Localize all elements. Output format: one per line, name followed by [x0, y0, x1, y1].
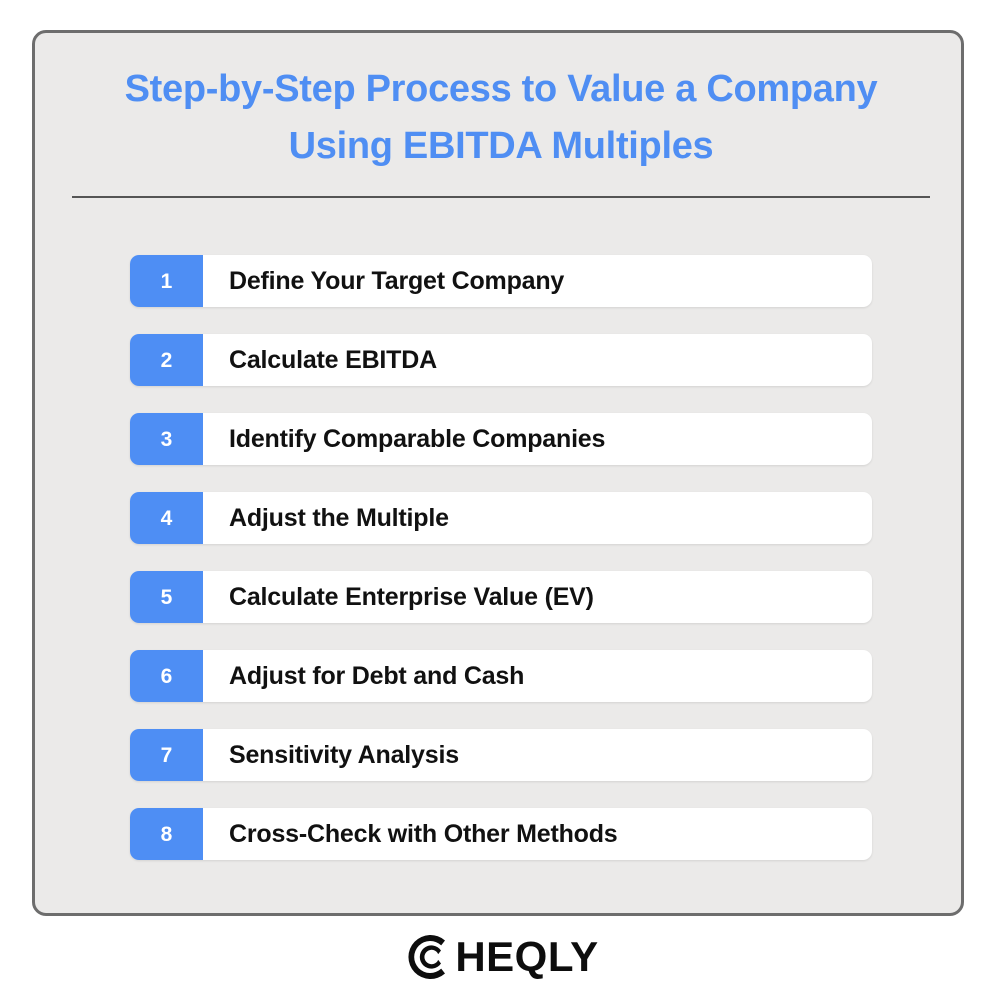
step-row[interactable]: 7 Sensitivity Analysis	[130, 729, 872, 781]
brand-name: HEQLY	[455, 936, 598, 978]
step-row[interactable]: 3 Identify Comparable Companies	[130, 413, 872, 465]
step-label: Calculate EBITDA	[203, 334, 872, 386]
infographic-page: Step-by-Step Process to Value a Company …	[0, 0, 1000, 1000]
step-label: Cross-Check with Other Methods	[203, 808, 872, 860]
step-number-badge: 4	[130, 492, 203, 544]
step-number-badge: 1	[130, 255, 203, 307]
page-title-line-1: Step-by-Step Process to Value a Company	[75, 61, 927, 118]
page-title: Step-by-Step Process to Value a Company …	[75, 61, 927, 175]
brand-logo: HEQLY	[0, 926, 1000, 988]
step-label: Sensitivity Analysis	[203, 729, 872, 781]
step-number-badge: 5	[130, 571, 203, 623]
steps-list: 1 Define Your Target Company 2 Calculate…	[130, 255, 872, 860]
step-row[interactable]: 8 Cross-Check with Other Methods	[130, 808, 872, 860]
step-label: Calculate Enterprise Value (EV)	[203, 571, 872, 623]
step-label: Adjust the Multiple	[203, 492, 872, 544]
step-row[interactable]: 5 Calculate Enterprise Value (EV)	[130, 571, 872, 623]
step-label: Adjust for Debt and Cash	[203, 650, 872, 702]
step-label: Identify Comparable Companies	[203, 413, 872, 465]
step-number-badge: 3	[130, 413, 203, 465]
step-row[interactable]: 2 Calculate EBITDA	[130, 334, 872, 386]
step-row[interactable]: 6 Adjust for Debt and Cash	[130, 650, 872, 702]
title-divider	[72, 196, 930, 198]
page-title-line-2: Using EBITDA Multiples	[75, 118, 927, 175]
content-panel: Step-by-Step Process to Value a Company …	[32, 30, 964, 916]
step-row[interactable]: 1 Define Your Target Company	[130, 255, 872, 307]
step-label: Define Your Target Company	[203, 255, 872, 307]
step-row[interactable]: 4 Adjust the Multiple	[130, 492, 872, 544]
cheqly-double-c-icon	[401, 931, 453, 983]
step-number-badge: 2	[130, 334, 203, 386]
step-number-badge: 7	[130, 729, 203, 781]
step-number-badge: 6	[130, 650, 203, 702]
step-number-badge: 8	[130, 808, 203, 860]
